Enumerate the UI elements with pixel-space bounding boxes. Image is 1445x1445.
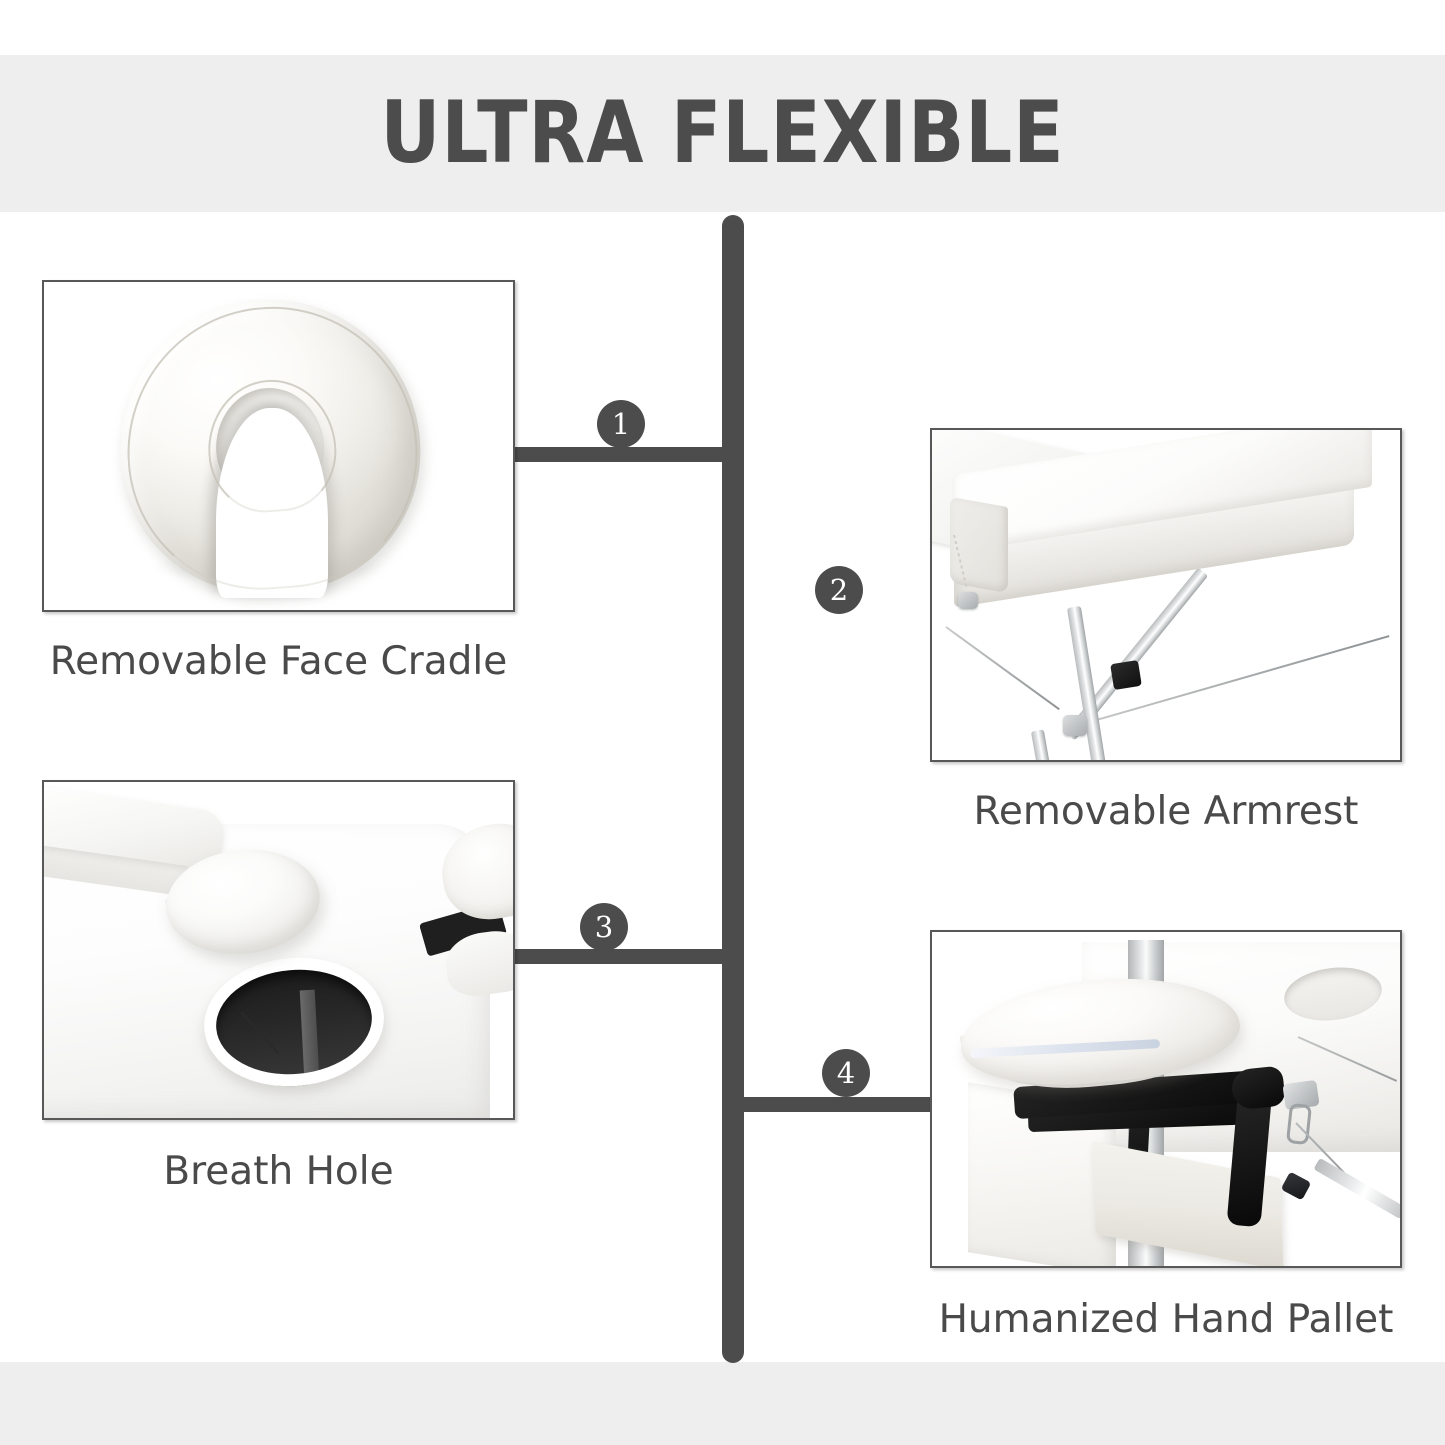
feature-photo-frame-2: [930, 428, 1402, 762]
feature-card-3: Breath Hole: [42, 780, 515, 1120]
feature-card-4: Humanized Hand Pallet: [930, 930, 1402, 1268]
cradle-body: [110, 290, 430, 602]
brace-clip: [1281, 1172, 1312, 1201]
table-bracket: [958, 592, 978, 609]
leg-brace: [1313, 1158, 1400, 1219]
armrest-leg-lower: [1031, 729, 1054, 760]
face-cradle-photo: [44, 282, 513, 610]
leg-pivot-joint: [1063, 715, 1087, 736]
feature-card-2: Removable Armrest: [930, 428, 1402, 762]
connector-arm-1: [512, 447, 734, 462]
footer-band: [0, 1362, 1445, 1445]
connector-trunk-line: [722, 215, 744, 1363]
armrest-photo: [932, 430, 1400, 760]
feature-caption-2: Removable Armrest: [890, 788, 1442, 836]
feature-badge-1: 1: [597, 400, 645, 448]
feature-photo-frame-3: [42, 780, 515, 1120]
feature-photo-frame-4: [930, 930, 1402, 1268]
hand-pallet-photo: [932, 932, 1400, 1266]
feature-badge-2: 2: [815, 566, 863, 614]
connector-arm-4: [732, 1097, 934, 1112]
black-clamp: [1110, 660, 1142, 690]
connector-arm-3: [512, 949, 734, 964]
feature-badge-3: 3: [580, 903, 628, 951]
page-title: ULTRA FLEXIBLE: [101, 78, 1344, 188]
support-cable-2: [945, 626, 1059, 710]
feature-card-1: Removable Face Cradle: [42, 280, 515, 612]
armrest-end-cap: [950, 497, 1008, 593]
locking-knob: [1230, 1065, 1286, 1110]
feature-badge-4: 4: [822, 1049, 870, 1097]
feature-photo-frame-1: [42, 280, 515, 612]
breath-hole-photo: [44, 782, 513, 1118]
feature-caption-1: Removable Face Cradle: [2, 638, 555, 686]
feature-caption-4: Humanized Hand Pallet: [890, 1296, 1442, 1344]
infographic-page: ULTRA FLEXIBLE 1 2 3 4 Removable Face Cr…: [0, 0, 1445, 1445]
feature-caption-3: Breath Hole: [2, 1148, 555, 1196]
